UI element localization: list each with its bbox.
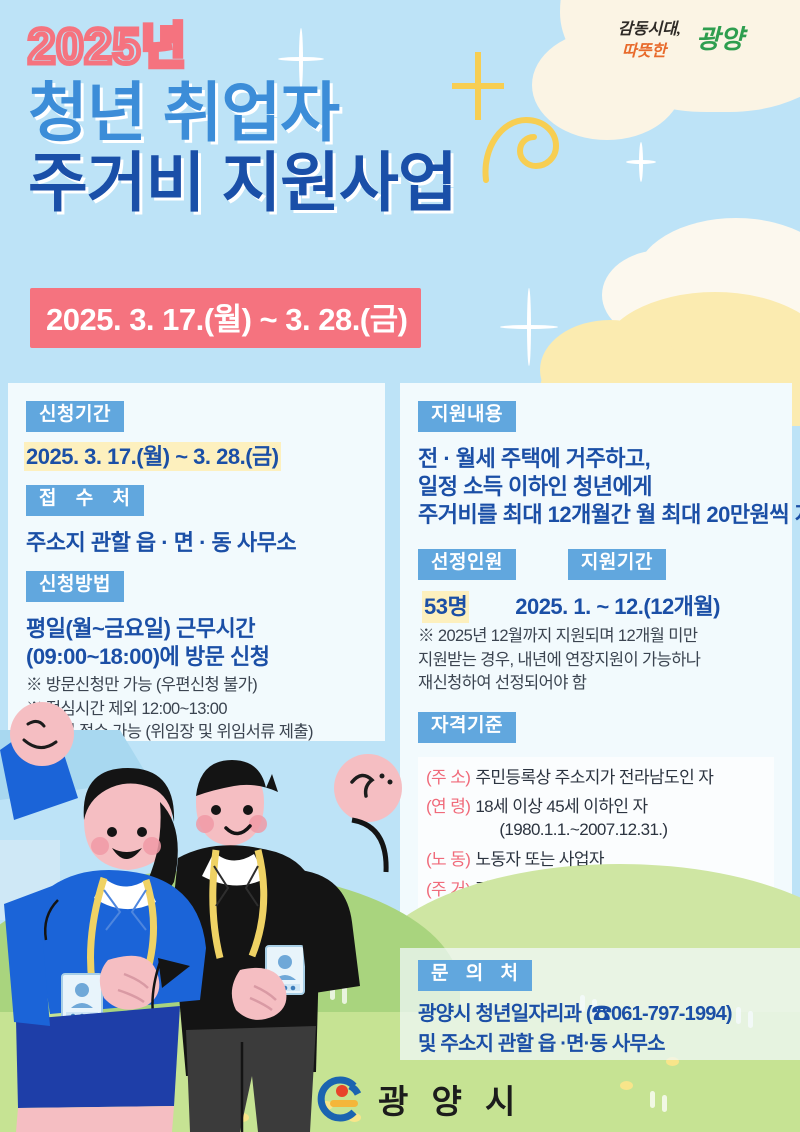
value-row-count-period: 53명 2025. 1. ~ 12.(12개월) [418, 593, 774, 621]
slogan-city: 광양 [696, 25, 749, 54]
qualification-value: 주민등록상 주소지가 전라남도인 자 [475, 767, 766, 790]
illus-man-eye [211, 805, 221, 815]
support-line3: 주거비를 최대 12개월간 월 최대 20만원씩 지원 [418, 501, 774, 529]
illus-man-blush [196, 815, 214, 833]
sparkle-star-icon [626, 142, 656, 182]
illustration-two-office-workers [0, 690, 430, 1132]
badge-support-period: 지원기간 [568, 549, 666, 580]
value-reception-office: 주소지 관할 읍 · 면 · 동 사무소 [26, 530, 296, 555]
badge-contact: 문 의 처 [418, 960, 532, 991]
illus-hand-detail [388, 780, 393, 785]
illus-hand-detail [380, 774, 385, 779]
value-method-line2: (09:00~18:00)에 방문 신청 [26, 643, 367, 671]
badge-reception-office: 접 수 처 [26, 485, 144, 516]
period-note: ※ 2025년 12월까지 지원되며 12개월 미만 [418, 625, 774, 648]
support-line3-highlight: 최대 12개월간 월 최대 20만원씩 [503, 501, 790, 529]
support-line1: 전 · 월세 주택에 거주하고, [418, 445, 774, 473]
support-line2: 일정 소득 이하인 청년에게 [418, 473, 774, 501]
contact-line2: 및 주소지 관할 읍 ·면·동 사무소 [418, 1029, 790, 1059]
period-note: 재신청하여 선정되어야 함 [418, 672, 774, 695]
slogan-line1: 감동시대, [618, 20, 681, 38]
value-support-period: 2025. 1. ~ 12.(12개월) [515, 593, 720, 621]
sparkle-star-icon [500, 288, 558, 366]
application-date-text: 2025. 3. 17.(월) ~ 3. 28.(금) [46, 302, 407, 337]
header-title-line2: 주거비 지원사업 [28, 149, 588, 217]
illus-woman-id-photo [75, 983, 89, 997]
qualification-key: (주 소) [426, 767, 470, 790]
period-note: 지원받는 경우, 내년에 연장지원이 가능하나 [418, 649, 774, 672]
illus-man-trousers [186, 1026, 316, 1132]
header-year: 2025년 [28, 22, 588, 73]
qualification-row-address: (주 소) 주민등록상 주소지가 전라남도인 자 [426, 767, 766, 790]
illus-woman-eye [137, 827, 147, 837]
illus-man-hand-lower [232, 968, 287, 1020]
qualification-value-main: 18세 이상 45세 이하인 자 [475, 797, 647, 816]
city-logo-footer: 광 양 시 [310, 1074, 522, 1124]
poster-header: 2025년 청년 취업자 주거비 지원사업 [28, 22, 588, 217]
section-reception-office: 접 수 처 주소지 관할 읍 · 면 · 동 사무소 [26, 485, 367, 557]
slogan-line2: 따뜻한 [622, 42, 668, 60]
qualification-key: (연 령) [426, 796, 470, 819]
value-selection-count: 53명 [424, 593, 467, 621]
illus-man-sleeve-edge [352, 820, 386, 872]
section-count-and-period: 선정인원 지원기간 53명 2025. 1. ~ 12.(12개월) ※ 202… [418, 549, 774, 695]
support-line3-post: 지원 [789, 502, 800, 527]
badge-application-period: 신청기간 [26, 401, 124, 432]
header-title-line1: 청년 취업자 [28, 79, 588, 147]
value-application-period: 2025. 3. 17.(월) ~ 3. 28.(금) [26, 444, 279, 469]
illus-woman-blush [143, 837, 161, 855]
illus-woman-hand [100, 956, 159, 1010]
contact-section: 문 의 처 광양시 청년일자리과 (☎061-797-1994) 및 주소지 관… [418, 960, 790, 1059]
left-info-panel: 신청기간 2025. 3. 17.(월) ~ 3. 28.(금) 접 수 처 주… [8, 383, 385, 741]
gwangyang-brand-slogan-logo: 감동시대, 따뜻한 광양 [600, 12, 780, 70]
qualification-value: 18세 이상 45세 이하인 자 (1980.1.1.~2007.12.31.) [475, 796, 766, 842]
illus-woman-blush [91, 837, 109, 855]
grass-dot [620, 1081, 633, 1090]
section-application-period: 신청기간 2025. 3. 17.(월) ~ 3. 28.(금) [26, 401, 367, 471]
city-name-label: 광 양 시 [378, 1075, 522, 1123]
support-line3-pre: 주거비를 [418, 502, 503, 527]
illus-id-dot [291, 986, 296, 991]
badge-row-count-period: 선정인원 지원기간 [418, 549, 774, 587]
grass-dash [650, 1091, 655, 1108]
application-date-band: 2025. 3. 17.(월) ~ 3. 28.(금) [30, 288, 421, 348]
illus-man-blush [249, 815, 267, 833]
badge-support-content: 지원내용 [418, 401, 516, 432]
illus-man-id-photo [278, 955, 292, 969]
qualification-key: (노 동) [426, 849, 470, 872]
badge-selection-count: 선정인원 [418, 549, 516, 580]
value-method-line1: 평일(월~금요일) 근무시간 [26, 615, 367, 643]
illus-woman-eye [107, 827, 117, 837]
section-support-content: 지원내용 전 · 월세 주택에 거주하고, 일정 소득 이하인 청년에게 주거비… [418, 401, 774, 529]
contact-line1: 광양시 청년일자리과 (☎061-797-1994) [418, 999, 790, 1029]
illus-man-eye [243, 805, 253, 815]
qualification-value-indent: (1980.1.1.~2007.12.31.) [475, 819, 766, 842]
gwangyang-city-emblem-icon [310, 1074, 366, 1124]
badge-application-method: 신청방법 [26, 571, 124, 602]
qualification-row-age: (연 령) 18세 이상 45세 이하인 자 (1980.1.1.~2007.1… [426, 796, 766, 842]
illus-woman-legs [16, 1106, 174, 1132]
poster-root: 감동시대, 따뜻한 광양 2025년 청년 취업자 주거비 지원사업 2025.… [0, 0, 800, 1132]
illus-hand-left [10, 702, 74, 766]
badge-qualification: 자격기준 [418, 712, 516, 743]
grass-dash [662, 1095, 667, 1112]
